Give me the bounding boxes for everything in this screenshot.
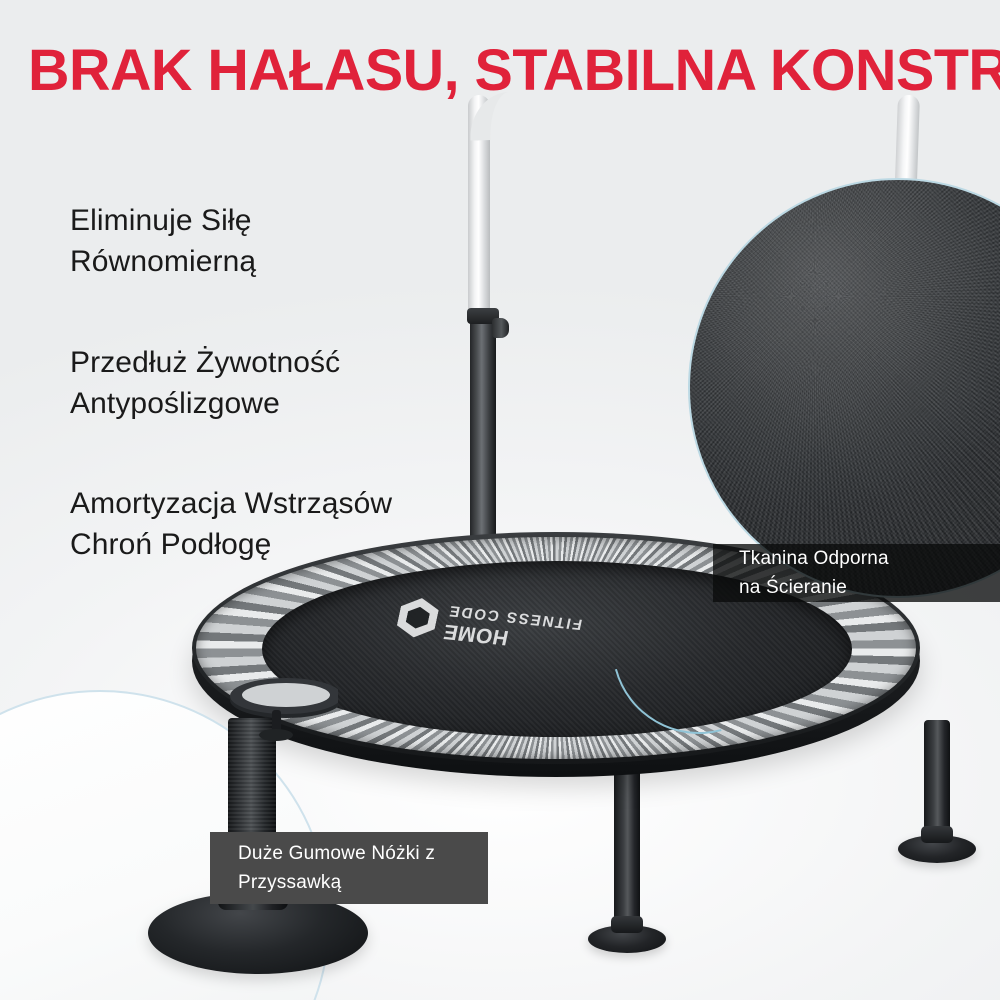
trampoline-leg-front xyxy=(614,760,640,932)
callout-label-rubber-feet: Duże Gumowe Nóżki z Przyssawką xyxy=(210,832,488,904)
detail-mini-frame-illustration xyxy=(168,676,338,746)
detail-circle-fabric xyxy=(688,178,1000,598)
leg-front-collar xyxy=(611,916,643,933)
page-title: BRAK HAŁASU, STABILNA KONSTRUKCJA xyxy=(28,40,978,102)
handlebar-adjustment-knob xyxy=(492,318,509,338)
shield-hexagon-icon xyxy=(395,596,441,639)
callout-label-fabric: Tkanina Odporna na Ścieranie xyxy=(713,544,1000,602)
feature-text-1: Eliminuje Siłę Równomierną xyxy=(70,200,256,282)
infographic-page: HOME FITNESS CODE BRAK xyxy=(0,0,1000,1000)
trampoline-leg-right xyxy=(924,720,950,840)
handlebar-pole-left-lower xyxy=(470,310,496,560)
feature-text-2: Przedłuż Żywotność Antypoślizgowe xyxy=(70,342,340,424)
feature-text-3: Amortyzacja Wstrząsów Chroń Podłogę xyxy=(70,483,392,565)
leg-right-collar xyxy=(921,826,953,843)
